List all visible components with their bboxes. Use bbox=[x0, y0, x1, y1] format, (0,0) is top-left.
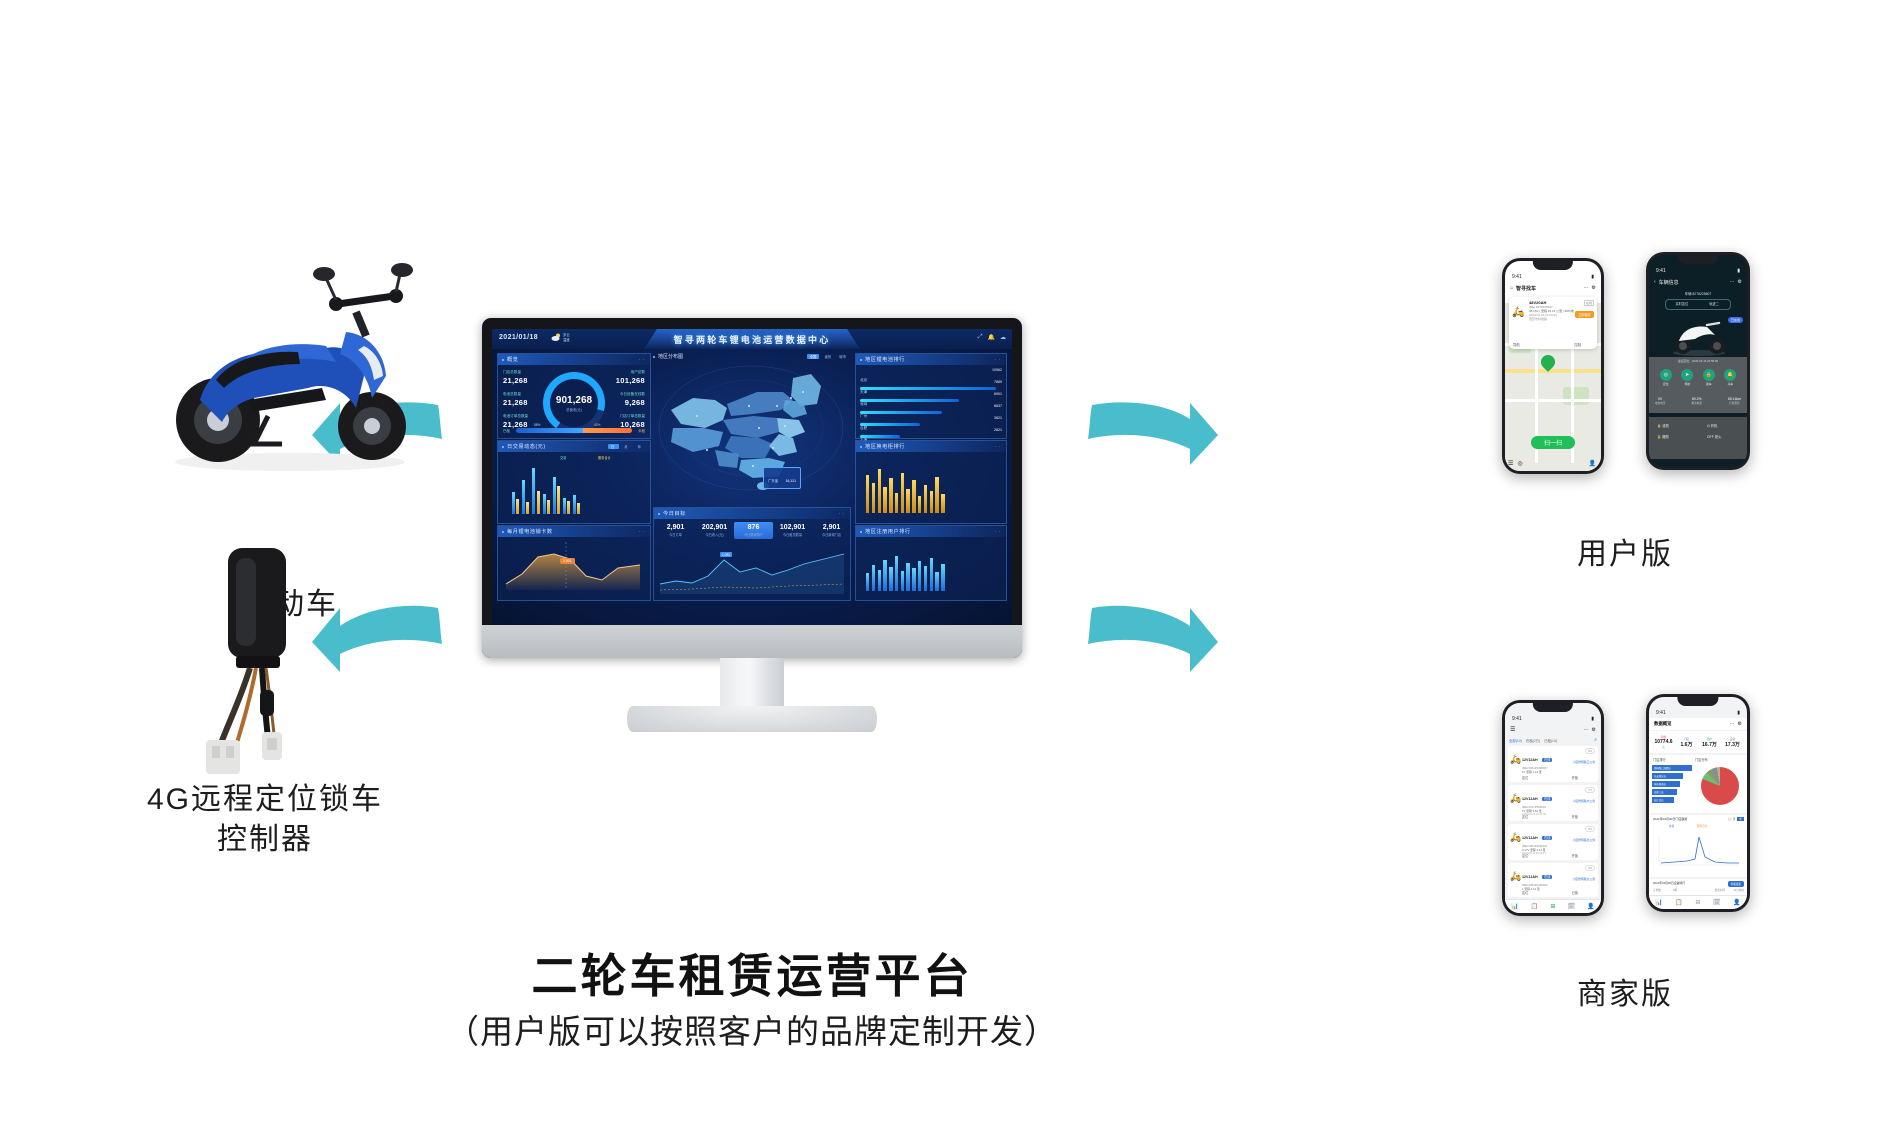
locate-button[interactable]: 定位 bbox=[1522, 890, 1528, 895]
notch bbox=[1533, 261, 1573, 270]
map-tab-country[interactable]: 全国 bbox=[807, 354, 820, 359]
search-icon[interactable]: ⌕ bbox=[1594, 737, 1597, 743]
more-icon[interactable]: ··· bbox=[1584, 285, 1589, 291]
stat-1: 用户总数 101,268 bbox=[616, 370, 645, 387]
phone-list-screen: 9:41 ▮ ☰ ··· ⚙ 全部(10) 在租(2万) 已租(14) ⌕ 🛵 … bbox=[1505, 703, 1601, 913]
settings-icon[interactable]: ⚙ bbox=[1592, 727, 1596, 733]
target-line-chart bbox=[658, 548, 846, 596]
settings-icon[interactable]: ⚙ bbox=[1592, 285, 1596, 291]
unlock-button[interactable]: 开锁 bbox=[1572, 814, 1578, 819]
status-time: 9:41 bbox=[1656, 268, 1666, 274]
battery-icon: ▮ bbox=[1737, 268, 1740, 274]
more-icon[interactable]: ··· bbox=[1584, 727, 1589, 733]
panel-overview-title: 概览 bbox=[507, 356, 518, 363]
device-name: 12V12AH bbox=[1522, 875, 1538, 879]
panel-target-title: 今日目标 bbox=[663, 510, 686, 517]
tab-stats-icon[interactable]: 📊 bbox=[1511, 903, 1518, 910]
unlock-button[interactable]: 已锁 bbox=[1572, 890, 1578, 895]
panel-menu-icon[interactable]: ·· bbox=[839, 511, 846, 517]
more-icon[interactable]: ··· bbox=[1730, 721, 1735, 727]
stat-3: 今日设备在线数 9,268 bbox=[620, 392, 645, 409]
panel-monthly-cards: 每月锂电池销卡数 ·· 2,901 bbox=[497, 525, 651, 601]
nav-action[interactable]: 导航 bbox=[1513, 343, 1520, 347]
kpi-revenue: 营收 10774.6 元 bbox=[1652, 735, 1675, 749]
device-address: 小区梧桐路文公寓 bbox=[1573, 838, 1595, 842]
locate-button[interactable]: 定位 bbox=[1522, 853, 1528, 858]
panel-menu-icon[interactable]: ·· bbox=[995, 357, 1002, 363]
page-title: 数据概览 bbox=[1654, 721, 1672, 727]
legend-trade: 交易 bbox=[560, 455, 566, 460]
kpi-1[interactable]: 202,901 今日收入(元) bbox=[695, 524, 734, 537]
merchant-app-label: 商家版 bbox=[1490, 975, 1760, 1016]
kpi-4[interactable]: 2,901 今日新增门店 bbox=[812, 524, 851, 537]
status-bar: 9:41 ▮ bbox=[1649, 707, 1747, 718]
last-location-subtitle: 最后定位：2020-06-15 20:58:00 bbox=[1649, 359, 1747, 363]
map-tab-city[interactable]: 城市 bbox=[836, 354, 849, 359]
status-bar: 9:41 ▮ bbox=[1505, 713, 1601, 724]
tracker-label-line1: 4G远程定位锁车 bbox=[110, 780, 420, 821]
monthly-annotation: 2,901 bbox=[560, 558, 575, 564]
user-app-phone-map: 扫一扫 ☰ ◎ 👤 9:41 ▮ ⌂ 智寻找车 ··· ⚙ 🛵 48V20AH … bbox=[1502, 258, 1604, 474]
trend-tab-month[interactable]: 月 bbox=[1733, 817, 1736, 821]
tab-calendar-icon[interactable]: 🗓 bbox=[1713, 899, 1721, 906]
panel-swap-rank: 地区换电柜排行 ·· bbox=[855, 440, 1007, 524]
kpi-stores: 门店 1.6万 bbox=[1675, 737, 1698, 748]
filter-all[interactable]: 全部(10) bbox=[1509, 738, 1522, 743]
device-name: 12V12AH bbox=[1522, 836, 1538, 840]
hamburger-icon[interactable]: ☰ bbox=[1510, 726, 1515, 733]
device-card[interactable]: 🛵 48V20AH IMEI 8276225607 48.15V | 里程 45… bbox=[1509, 297, 1597, 349]
tab-year[interactable]: 年 bbox=[635, 444, 646, 449]
dashboard-top-icons[interactable]: ⤢ 🔔 ☁ bbox=[978, 334, 1006, 341]
metric-battery: 69.2% 剩余电量 bbox=[1691, 397, 1701, 405]
device-meta: 1V 里程 1.12 里 bbox=[1522, 770, 1598, 774]
status-time: 9:41 bbox=[1656, 710, 1666, 716]
scooter-icon: 🛵 bbox=[1512, 307, 1524, 318]
kpi-devices: 设备 17.3万 bbox=[1721, 737, 1744, 748]
status-bar: 9:41 ▮ bbox=[1649, 265, 1747, 276]
notch bbox=[1677, 255, 1718, 264]
filter-renting[interactable]: 在租(2万) bbox=[1526, 738, 1540, 743]
battery-pct: 7% bbox=[1585, 787, 1595, 793]
kpi-users: 用户 16.7万 bbox=[1698, 737, 1721, 748]
device-address: 小区梧桐路文公寓 bbox=[1573, 877, 1595, 881]
lock-icon[interactable]: 🔒 bbox=[1703, 369, 1715, 381]
control-locate[interactable]: ◎ 定位 bbox=[1660, 369, 1672, 386]
scooter-illustration bbox=[1667, 317, 1731, 357]
device-name: 12V12AH bbox=[1522, 797, 1538, 801]
switch-disarm[interactable]: 🔓 撤防 bbox=[1657, 434, 1689, 439]
device-time: 2020-05-11 09:38:17 bbox=[1522, 852, 1598, 855]
nav-title: 智寻找车 bbox=[1516, 285, 1536, 292]
phone-detail-screen: 9:41 ▮ ‹ 车辆信息 ··· ⚙ 车辆 8276225607 实时定位 轨… bbox=[1649, 255, 1747, 467]
kpi-2[interactable]: 876 今日新增用户 bbox=[734, 522, 773, 539]
settings-icon[interactable]: ⚙ bbox=[1738, 279, 1742, 285]
panel-menu-icon[interactable]: ·· bbox=[995, 444, 1002, 450]
panel-menu-icon[interactable]: ·· bbox=[639, 357, 646, 363]
notch bbox=[1677, 697, 1718, 706]
status-badge: 在线 bbox=[1542, 758, 1552, 762]
kpi-3[interactable]: 102,901 今日租赁数量 bbox=[773, 524, 812, 537]
dashboard: 2021/01/18 多云 温度 智寻两轮车锂电池运营数据中心 ⤢ 🔔 ☁ bbox=[492, 329, 1012, 625]
monitor-chin bbox=[482, 625, 1022, 658]
battery-pct: 9% bbox=[1585, 826, 1595, 832]
panel-daily-trade-title: 日交易动态(元) bbox=[507, 443, 546, 450]
kpi-0[interactable]: 2,901 今日订单 bbox=[656, 524, 695, 537]
store-bar-1: 长安路分店 bbox=[1652, 773, 1683, 779]
store-dist-title: 门店分布 bbox=[1695, 757, 1708, 762]
stat-2: 电池总数量 21,268 bbox=[503, 392, 528, 409]
control-action[interactable]: 控制 bbox=[1574, 343, 1581, 347]
scooter-icon: 🛵 bbox=[1510, 793, 1521, 804]
map-tooltip: 广东省 16,121 bbox=[763, 467, 801, 489]
status-badge: 在线 bbox=[1584, 300, 1594, 306]
store-bar-4: 曲江总店 bbox=[1652, 797, 1674, 803]
monitor-bezel: 2021/01/18 多云 温度 智寻两轮车锂电池运营数据中心 ⤢ 🔔 ☁ bbox=[482, 318, 1022, 658]
swap-rank-chart bbox=[866, 457, 945, 513]
store-rank-title: 门店排行 bbox=[1653, 757, 1666, 762]
merchant-app-phone-list: 9:41 ▮ ☰ ··· ⚙ 全部(10) 在租(2万) 已租(14) ⌕ 🛵 … bbox=[1502, 700, 1604, 916]
tab-devices-icon[interactable]: ⊞ bbox=[1695, 899, 1700, 906]
tracker-image bbox=[170, 540, 350, 780]
arrow-to-merchant-app bbox=[1080, 600, 1220, 680]
unlock-icon: 🔓 bbox=[1657, 435, 1661, 439]
device-code: 车辆 8276225607 bbox=[1649, 291, 1747, 296]
trend-title: 2021年04月30日门店趋势 bbox=[1653, 817, 1687, 821]
scan-button[interactable]: 扫一扫 bbox=[1531, 436, 1575, 449]
gauge-caption: 总营收(元) bbox=[566, 407, 582, 412]
status-time: 9:41 bbox=[1512, 716, 1522, 722]
list-icon[interactable]: ☰ bbox=[1508, 460, 1513, 467]
gauge-value: 901,268 bbox=[556, 395, 592, 406]
panel-overview: 概览 ·· 901,268 总营收(元) 门店总数量 21,268 bbox=[497, 353, 651, 439]
target-annotation: 1,090 bbox=[720, 552, 732, 557]
more-icon[interactable]: ··· bbox=[1730, 279, 1735, 285]
list-item[interactable]: 🛵 12V12AH 在线 IMEI 0051P4490043 1 里程 1.12… bbox=[1508, 863, 1598, 897]
progress-right-label: 未租 bbox=[638, 428, 645, 433]
metric-voltage: 0V 电池电压 bbox=[1655, 397, 1665, 405]
battery-icon: ▮ bbox=[1737, 710, 1740, 716]
locate-button[interactable]: 定位 bbox=[1522, 814, 1528, 819]
nav-title: 车辆信息 bbox=[1659, 279, 1679, 286]
lock-icon: 🔒 bbox=[1657, 424, 1661, 428]
progress-left-pct: 58% bbox=[534, 423, 540, 427]
view-more-button[interactable]: 查看更多 bbox=[1728, 881, 1744, 887]
list-item[interactable]: 🛵 12V12AH 在线 IMEI 0051P4490037 1V 里程 1.1… bbox=[1508, 746, 1598, 782]
scooter-icon: 🛵 bbox=[1510, 871, 1521, 882]
phone-map-screen: 扫一扫 ☰ ◎ 👤 9:41 ▮ ⌂ 智寻找车 ··· ⚙ 🛵 48V20AH … bbox=[1505, 261, 1601, 471]
monitor-screen: 2021/01/18 多云 温度 智寻两轮车锂电池运营数据中心 ⤢ 🔔 ☁ bbox=[492, 329, 1012, 625]
device-name: 12V12AH bbox=[1522, 758, 1538, 762]
panel-user-rank: 地区注册用户排行 ·· bbox=[855, 525, 1007, 601]
panel-daily-trade: 日交易动态(元) 日 月 年 交易 服务合计 bbox=[497, 440, 651, 524]
device-meta: 1 里程 1.12 里 bbox=[1522, 887, 1598, 891]
monitor-neck bbox=[720, 658, 784, 710]
stat-0: 门店总数量 21,268 bbox=[503, 370, 528, 387]
footer-meta-1: 9笔 bbox=[1673, 888, 1677, 892]
page-title: 二轮车租赁运营平台 bbox=[452, 940, 1052, 1006]
battery-icon: ▮ bbox=[1591, 716, 1594, 722]
user-icon[interactable]: ☁ bbox=[1000, 334, 1006, 341]
scooter-image bbox=[150, 230, 430, 480]
scooter-icon: 🛵 bbox=[1510, 832, 1521, 843]
merchant-app-phone-stats: 9:41 ▮ 数据概览 ··· ⚙ 营收 10774.6 元 门店 1.6万 用… bbox=[1646, 694, 1750, 912]
kpi-row: 2,901 今日订单 202,901 今日收入(元) 876 今日新增用户 10… bbox=[656, 522, 851, 539]
store-bar-3: 高新三店 bbox=[1652, 789, 1677, 795]
status-badge: 在线 bbox=[1542, 875, 1552, 879]
rent-button[interactable]: 立即租车 bbox=[1575, 311, 1594, 318]
battery-pct: 9% bbox=[1585, 748, 1595, 754]
monitor-base bbox=[627, 706, 877, 732]
status-badge: 在线 bbox=[1542, 836, 1552, 840]
control-lock[interactable]: 🔒 锁车 bbox=[1703, 369, 1715, 386]
panel-user-rank-title: 地区注册用户排行 bbox=[865, 528, 911, 535]
locate-button[interactable]: 定位 bbox=[1522, 775, 1528, 780]
control-navigate[interactable]: ➤ 导航 bbox=[1681, 369, 1693, 386]
user-app-phone-detail: 9:41 ▮ ‹ 车辆信息 ··· ⚙ 车辆 8276225607 实时定位 轨… bbox=[1646, 252, 1750, 470]
store-bar-2: 科技路南店 bbox=[1652, 781, 1680, 787]
tab-orders-icon[interactable]: 📋 bbox=[1675, 899, 1682, 906]
tab-orders-icon[interactable]: 📋 bbox=[1531, 903, 1538, 910]
scooter-icon: 🛵 bbox=[1510, 754, 1521, 765]
dashboard-title: 智寻两轮车锂电池运营数据中心 bbox=[492, 333, 1012, 346]
china-map[interactable] bbox=[653, 362, 849, 498]
filter-rented[interactable]: 已租(14) bbox=[1544, 738, 1557, 743]
tab-profile-icon[interactable]: 👤 bbox=[1587, 903, 1594, 910]
panel-map: 地区分布图 全国 省份 城市 bbox=[653, 353, 849, 505]
tab-devices-icon[interactable]: ⊞ bbox=[1550, 903, 1555, 910]
tab-day[interactable]: 日 bbox=[608, 444, 619, 449]
bottom-tabbar[interactable]: 📊 📋 ⊞ 🗓 👤 bbox=[1649, 895, 1747, 909]
switch-off[interactable]: OFF 熄火 bbox=[1707, 434, 1739, 439]
tab-calendar-icon[interactable]: 🗓 bbox=[1568, 903, 1576, 910]
bell-icon[interactable]: 🔔 bbox=[1724, 369, 1736, 381]
panel-swap-rank-title: 地区换电柜排行 bbox=[865, 443, 905, 450]
tracker-label-line2: 控制器 bbox=[110, 820, 420, 861]
footer-meta-0: 订单数 bbox=[1653, 888, 1661, 892]
monthly-area-chart bbox=[504, 540, 644, 592]
legend-service: 服务合计 bbox=[598, 455, 611, 460]
footer-meta-3: 41分钟前 bbox=[1733, 888, 1744, 892]
daily-trade-chart bbox=[512, 466, 580, 514]
tab-profile-icon[interactable]: 👤 bbox=[1733, 899, 1740, 906]
switch-arm[interactable]: 🔒 设防 bbox=[1657, 423, 1689, 428]
navigate-icon[interactable]: ➤ bbox=[1681, 369, 1693, 381]
trend-line-chart bbox=[1655, 833, 1741, 869]
metric-range: 65.14km 行驶里程 bbox=[1728, 397, 1741, 405]
trend-legend-1: 服务合计 bbox=[1697, 824, 1707, 828]
home-icon[interactable]: ⌂ bbox=[1510, 285, 1513, 291]
notch bbox=[1533, 703, 1573, 712]
switch-power[interactable]: ⏻ 开机 bbox=[1707, 423, 1739, 428]
status-badge: 在线 bbox=[1542, 797, 1552, 801]
desktop-monitor: 2021/01/18 多云 温度 智寻两轮车锂电池运营数据中心 ⤢ 🔔 ☁ bbox=[482, 318, 1022, 738]
off-icon: OFF bbox=[1707, 435, 1714, 439]
panel-map-title: 地区分布图 bbox=[658, 353, 683, 360]
panel-today-target: 今日目标 ·· 2,901 今日订单 202,901 今日收入(元) 876 今… bbox=[653, 507, 851, 601]
trend-tab-year[interactable]: 年 bbox=[1737, 817, 1744, 821]
panel-menu-icon[interactable]: ·· bbox=[995, 529, 1002, 535]
revenue-gauge: 901,268 总营收(元) bbox=[543, 372, 605, 434]
profile-icon[interactable]: 👤 bbox=[1589, 460, 1596, 467]
device-address: 小区梧桐路文公寓 bbox=[1573, 799, 1595, 803]
panel-monthly-title: 每月锂电池销卡数 bbox=[507, 528, 553, 535]
user-rank-chart bbox=[866, 543, 945, 591]
user-app-label: 用户版 bbox=[1490, 535, 1760, 576]
back-icon[interactable]: ‹ bbox=[1654, 279, 1656, 285]
arrow-to-user-app bbox=[1080, 395, 1220, 475]
panel-battery-rank: 地区锂电池排行 ·· 10962 北京 7889 天津 6901 深圳 bbox=[855, 353, 1007, 439]
list-item[interactable]: 🛵 12V12AH 在线 IMEI 0051P4490011 3.17V 里程 … bbox=[1508, 824, 1598, 860]
locate-icon[interactable]: ◎ bbox=[1517, 460, 1522, 467]
status-time: 9:41 bbox=[1512, 274, 1522, 280]
progress-left-label: 已租 bbox=[503, 428, 510, 433]
tab-month[interactable]: 月 bbox=[621, 444, 632, 449]
page-subtitle: （用户版可以按照客户的品牌定制开发） bbox=[402, 1005, 1102, 1053]
battery-pct: 8% bbox=[1585, 865, 1595, 871]
expand-icon[interactable]: ⤢ bbox=[978, 334, 983, 341]
trend-tab-day[interactable]: 日 bbox=[1728, 817, 1731, 821]
map-tab-province[interactable]: 省份 bbox=[821, 354, 834, 359]
status-bar: 9:41 ▮ bbox=[1505, 271, 1601, 282]
control-find[interactable]: 🔔 寻车 bbox=[1724, 369, 1736, 386]
store-distribution-pie bbox=[1701, 767, 1739, 805]
phone-stats-screen: 9:41 ▮ 数据概览 ··· ⚙ 营收 10774.6 元 门店 1.6万 用… bbox=[1649, 697, 1747, 909]
bell-icon[interactable]: 🔔 bbox=[988, 334, 995, 341]
battery-icon: ▮ bbox=[1591, 274, 1594, 280]
tab-track[interactable]: 轨迹二 bbox=[1698, 300, 1730, 309]
trend-legend-0: 交易 bbox=[1669, 824, 1674, 828]
panel-menu-icon[interactable]: ·· bbox=[639, 529, 646, 535]
footer-section-title: 2021年04月30日设备排行 bbox=[1653, 881, 1685, 885]
locate-icon[interactable]: ◎ bbox=[1660, 369, 1672, 381]
bottom-tabbar[interactable]: 📊 📋 ⊞ 🗓 👤 bbox=[1505, 899, 1601, 913]
power-icon: ⏻ bbox=[1707, 424, 1710, 428]
settings-icon[interactable]: ⚙ bbox=[1738, 721, 1742, 727]
panel-battery-rank-title: 地区锂电池排行 bbox=[865, 356, 905, 363]
list-item[interactable]: 🛵 12V12AH 在线 IMEI 0317P490043 1V 里程 3.62… bbox=[1508, 785, 1598, 821]
store-bar-0: 梧桐路口加盟店 bbox=[1652, 765, 1692, 771]
unlock-button[interactable]: 开锁 bbox=[1572, 775, 1578, 780]
device-address: 小区梧桐路口公寓 bbox=[1573, 760, 1595, 764]
unlock-button[interactable]: 开锁 bbox=[1572, 853, 1578, 858]
tab-stats-icon[interactable]: 📊 bbox=[1655, 899, 1662, 906]
footer-meta-2: 更新时间 bbox=[1715, 888, 1725, 892]
device-time: 2020-04-06 10:16:30 bbox=[1522, 813, 1598, 816]
tab-realtime[interactable]: 实时定位 bbox=[1666, 300, 1698, 309]
